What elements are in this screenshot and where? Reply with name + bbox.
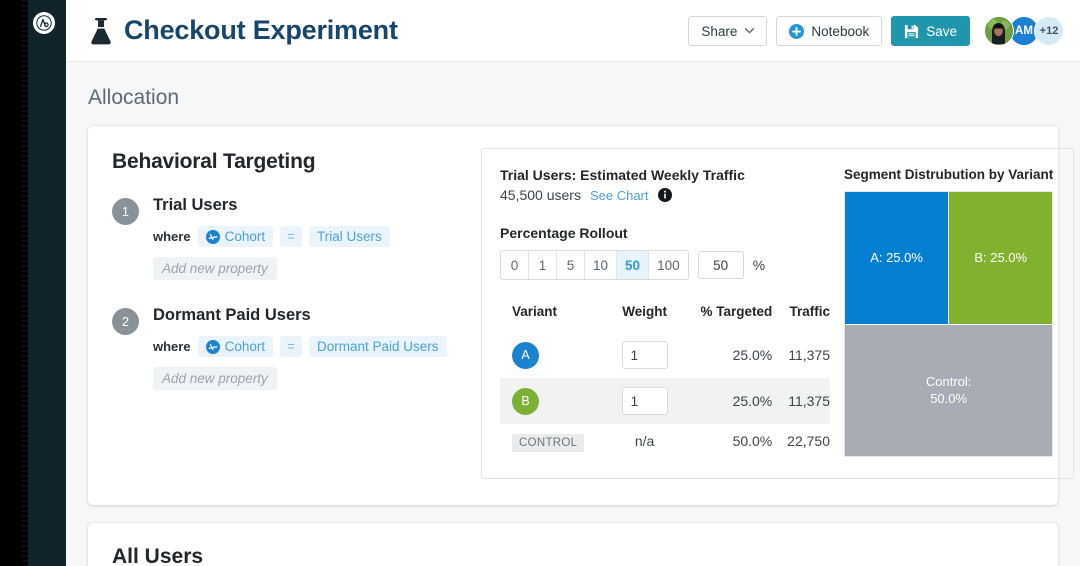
behavioral-targeting-column: Behavioral Targeting 1 Trial Users where bbox=[112, 148, 467, 479]
cell-weight bbox=[614, 332, 676, 378]
floppy-disk-icon bbox=[904, 24, 919, 39]
title-wrap: Checkout Experiment bbox=[88, 15, 398, 46]
share-button-label: Share bbox=[701, 24, 737, 39]
col-header-targeted: % Targeted bbox=[676, 304, 773, 332]
notebook-button-label: Notebook bbox=[811, 24, 869, 39]
rule-property-label: Cohort bbox=[225, 229, 266, 244]
add-new-property-button[interactable]: Add new property bbox=[153, 257, 277, 280]
all-users-card: All Users bbox=[88, 523, 1058, 566]
percentage-rollout-label: Percentage Rollout bbox=[500, 225, 830, 241]
top-bar: Checkout Experiment Share Notebook bbox=[66, 0, 1080, 62]
rollout-option-50[interactable]: 50 bbox=[617, 251, 649, 279]
rule-step-badge: 2 bbox=[112, 308, 139, 335]
plus-circle-icon bbox=[789, 24, 804, 39]
rule-property-label: Cohort bbox=[225, 339, 266, 354]
rule-property-pill[interactable]: Cohort bbox=[198, 336, 274, 357]
rule-value-pill[interactable]: Dormant Paid Users bbox=[309, 336, 447, 357]
rollout-segmented-control: 0 1 5 10 50 100 bbox=[500, 250, 689, 280]
traffic-subline: 45,500 users See Chart bbox=[500, 187, 830, 203]
targeting-rule-1: 1 Trial Users where bbox=[112, 196, 467, 280]
flask-icon bbox=[88, 16, 114, 46]
cell-targeted: 25.0% bbox=[676, 332, 773, 378]
content-area: Allocation Behavioral Targeting 1 Trial … bbox=[66, 86, 1080, 566]
info-icon[interactable] bbox=[658, 188, 672, 202]
cohort-icon bbox=[206, 340, 220, 354]
rollout-percent-input[interactable] bbox=[698, 251, 744, 279]
treemap-cell-b[interactable]: B: 25.0% bbox=[949, 192, 1052, 324]
where-label: where bbox=[153, 339, 191, 354]
rollout-option-1[interactable]: 1 bbox=[529, 251, 557, 279]
avatar-group: AM +12 bbox=[984, 16, 1064, 46]
targeting-group-title: Behavioral Targeting bbox=[112, 150, 467, 174]
top-bar-actions: Share Notebook bbox=[688, 0, 1064, 62]
page-title: Checkout Experiment bbox=[124, 15, 398, 46]
rule-property-pill[interactable]: Cohort bbox=[198, 226, 274, 247]
section-heading-allocation: Allocation bbox=[88, 86, 1058, 110]
cell-weight bbox=[614, 378, 676, 424]
app-logo-icon[interactable] bbox=[33, 12, 55, 34]
rule-operator-pill[interactable]: = bbox=[280, 226, 302, 247]
cell-variant: CONTROL bbox=[500, 424, 614, 458]
treemap: A: 25.0% B: 25.0% Control: 50.0% bbox=[844, 191, 1053, 457]
chevron-down-icon bbox=[745, 28, 754, 34]
rule-body: Dormant Paid Users where Cohort bbox=[153, 306, 467, 390]
treemap-control-value: 50.0% bbox=[926, 390, 972, 408]
rule-operator-pill[interactable]: = bbox=[280, 336, 302, 357]
variant-badge-a: A bbox=[512, 342, 539, 369]
col-header-variant: Variant bbox=[500, 304, 614, 332]
cohort-icon bbox=[206, 230, 220, 244]
variant-badge-b: B bbox=[512, 388, 539, 415]
rule-body: Trial Users where Cohort bbox=[153, 196, 467, 280]
treemap-cell-a[interactable]: A: 25.0% bbox=[845, 192, 948, 324]
cell-traffic: 11,375 bbox=[772, 332, 830, 378]
see-chart-link[interactable]: See Chart bbox=[590, 188, 649, 203]
rollout-option-0[interactable]: 0 bbox=[501, 251, 529, 279]
rollout-option-100[interactable]: 100 bbox=[649, 251, 688, 279]
add-new-property-button[interactable]: Add new property bbox=[153, 367, 277, 390]
rule-name: Dormant Paid Users bbox=[153, 306, 467, 325]
chart-title: Segment Distrubution by Variant bbox=[844, 167, 1053, 182]
allocation-card: Behavioral Targeting 1 Trial Users where bbox=[88, 126, 1058, 505]
variant-badge-control: CONTROL bbox=[512, 434, 584, 452]
treemap-control-label: Control: bbox=[926, 373, 972, 391]
save-button[interactable]: Save bbox=[891, 16, 970, 46]
rule-step-badge: 1 bbox=[112, 198, 139, 225]
cell-targeted: 25.0% bbox=[676, 378, 773, 424]
rollout-option-5[interactable]: 5 bbox=[557, 251, 585, 279]
treemap-cell-control[interactable]: Control: 50.0% bbox=[845, 325, 1052, 457]
cell-traffic: 22,750 bbox=[772, 424, 830, 458]
variant-table: Variant Weight % Targeted Traffic A bbox=[500, 304, 830, 458]
cell-variant: B bbox=[500, 378, 614, 424]
user-avatar-photo[interactable] bbox=[984, 16, 1014, 46]
app-rail bbox=[28, 0, 66, 566]
where-label: where bbox=[153, 229, 191, 244]
rule-value-pill[interactable]: Trial Users bbox=[309, 226, 390, 247]
screen-root: Checkout Experiment Share Notebook bbox=[0, 0, 1080, 566]
rule-where-row: where Cohort = bbox=[153, 336, 467, 357]
table-row: B 25.0% 11,375 bbox=[500, 378, 830, 424]
rule-name: Trial Users bbox=[153, 196, 467, 215]
percent-sign-label: % bbox=[753, 257, 765, 273]
rule-where-row: where Cohort = bbox=[153, 226, 467, 247]
traffic-panel: Trial Users: Estimated Weekly Traffic 45… bbox=[481, 148, 1074, 479]
segment-distribution-chart: Segment Distrubution by Variant A: 25.0%… bbox=[844, 167, 1053, 458]
cell-weight: n/a bbox=[614, 424, 676, 458]
rollout-option-10[interactable]: 10 bbox=[585, 251, 617, 279]
table-row: A 25.0% 11,375 bbox=[500, 332, 830, 378]
traffic-users-count: 45,500 users bbox=[500, 187, 581, 203]
weight-input-b[interactable] bbox=[622, 387, 668, 415]
weight-input-a[interactable] bbox=[622, 341, 668, 369]
notebook-button[interactable]: Notebook bbox=[776, 16, 882, 46]
targeting-rule-2: 2 Dormant Paid Users where bbox=[112, 306, 467, 390]
left-black-gutter bbox=[0, 0, 28, 566]
page-area: Checkout Experiment Share Notebook bbox=[66, 0, 1080, 566]
table-row: CONTROL n/a 50.0% 22,750 bbox=[500, 424, 830, 458]
treemap-top-row: A: 25.0% B: 25.0% bbox=[845, 192, 1052, 324]
cell-traffic: 11,375 bbox=[772, 378, 830, 424]
col-header-weight: Weight bbox=[614, 304, 676, 332]
traffic-title: Trial Users: Estimated Weekly Traffic bbox=[500, 167, 830, 183]
user-avatar-overflow[interactable]: +12 bbox=[1034, 16, 1064, 46]
cell-targeted: 50.0% bbox=[676, 424, 773, 458]
share-button[interactable]: Share bbox=[688, 16, 767, 46]
traffic-details: Trial Users: Estimated Weekly Traffic 45… bbox=[500, 167, 830, 458]
percentage-rollout-row: 0 1 5 10 50 100 % bbox=[500, 250, 830, 280]
col-header-traffic: Traffic bbox=[772, 304, 830, 332]
table-header-row: Variant Weight % Targeted Traffic bbox=[500, 304, 830, 332]
save-button-label: Save bbox=[926, 24, 957, 39]
all-users-title: All Users bbox=[112, 545, 203, 566]
cell-variant: A bbox=[500, 332, 614, 378]
